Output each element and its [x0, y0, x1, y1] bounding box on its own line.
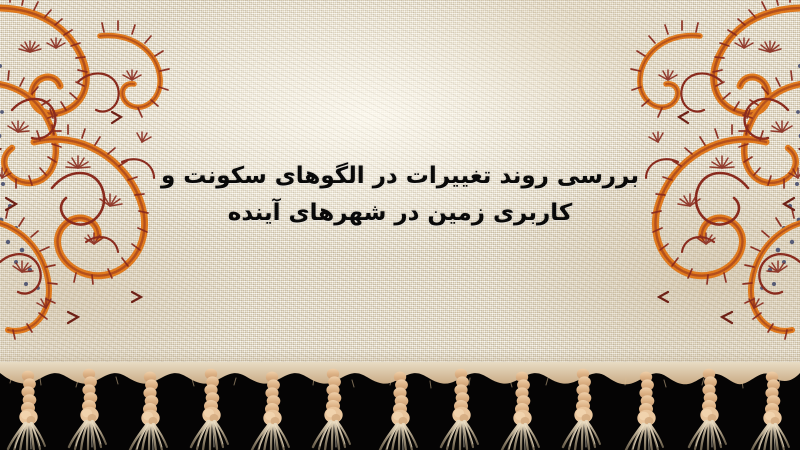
- tassel-group: [8, 369, 789, 450]
- title-line-2: کاربری زمین در شهرهای آینده: [0, 195, 800, 232]
- slide-canvas: بررسی روند تغییرات در الگوهای سکونت و کا…: [0, 0, 800, 450]
- title-line-1: بررسی روند تغییرات در الگوهای سکونت و: [0, 158, 800, 195]
- slide-title: بررسی روند تغییرات در الگوهای سکونت و کا…: [0, 158, 800, 232]
- tassel-fringe: [0, 362, 800, 450]
